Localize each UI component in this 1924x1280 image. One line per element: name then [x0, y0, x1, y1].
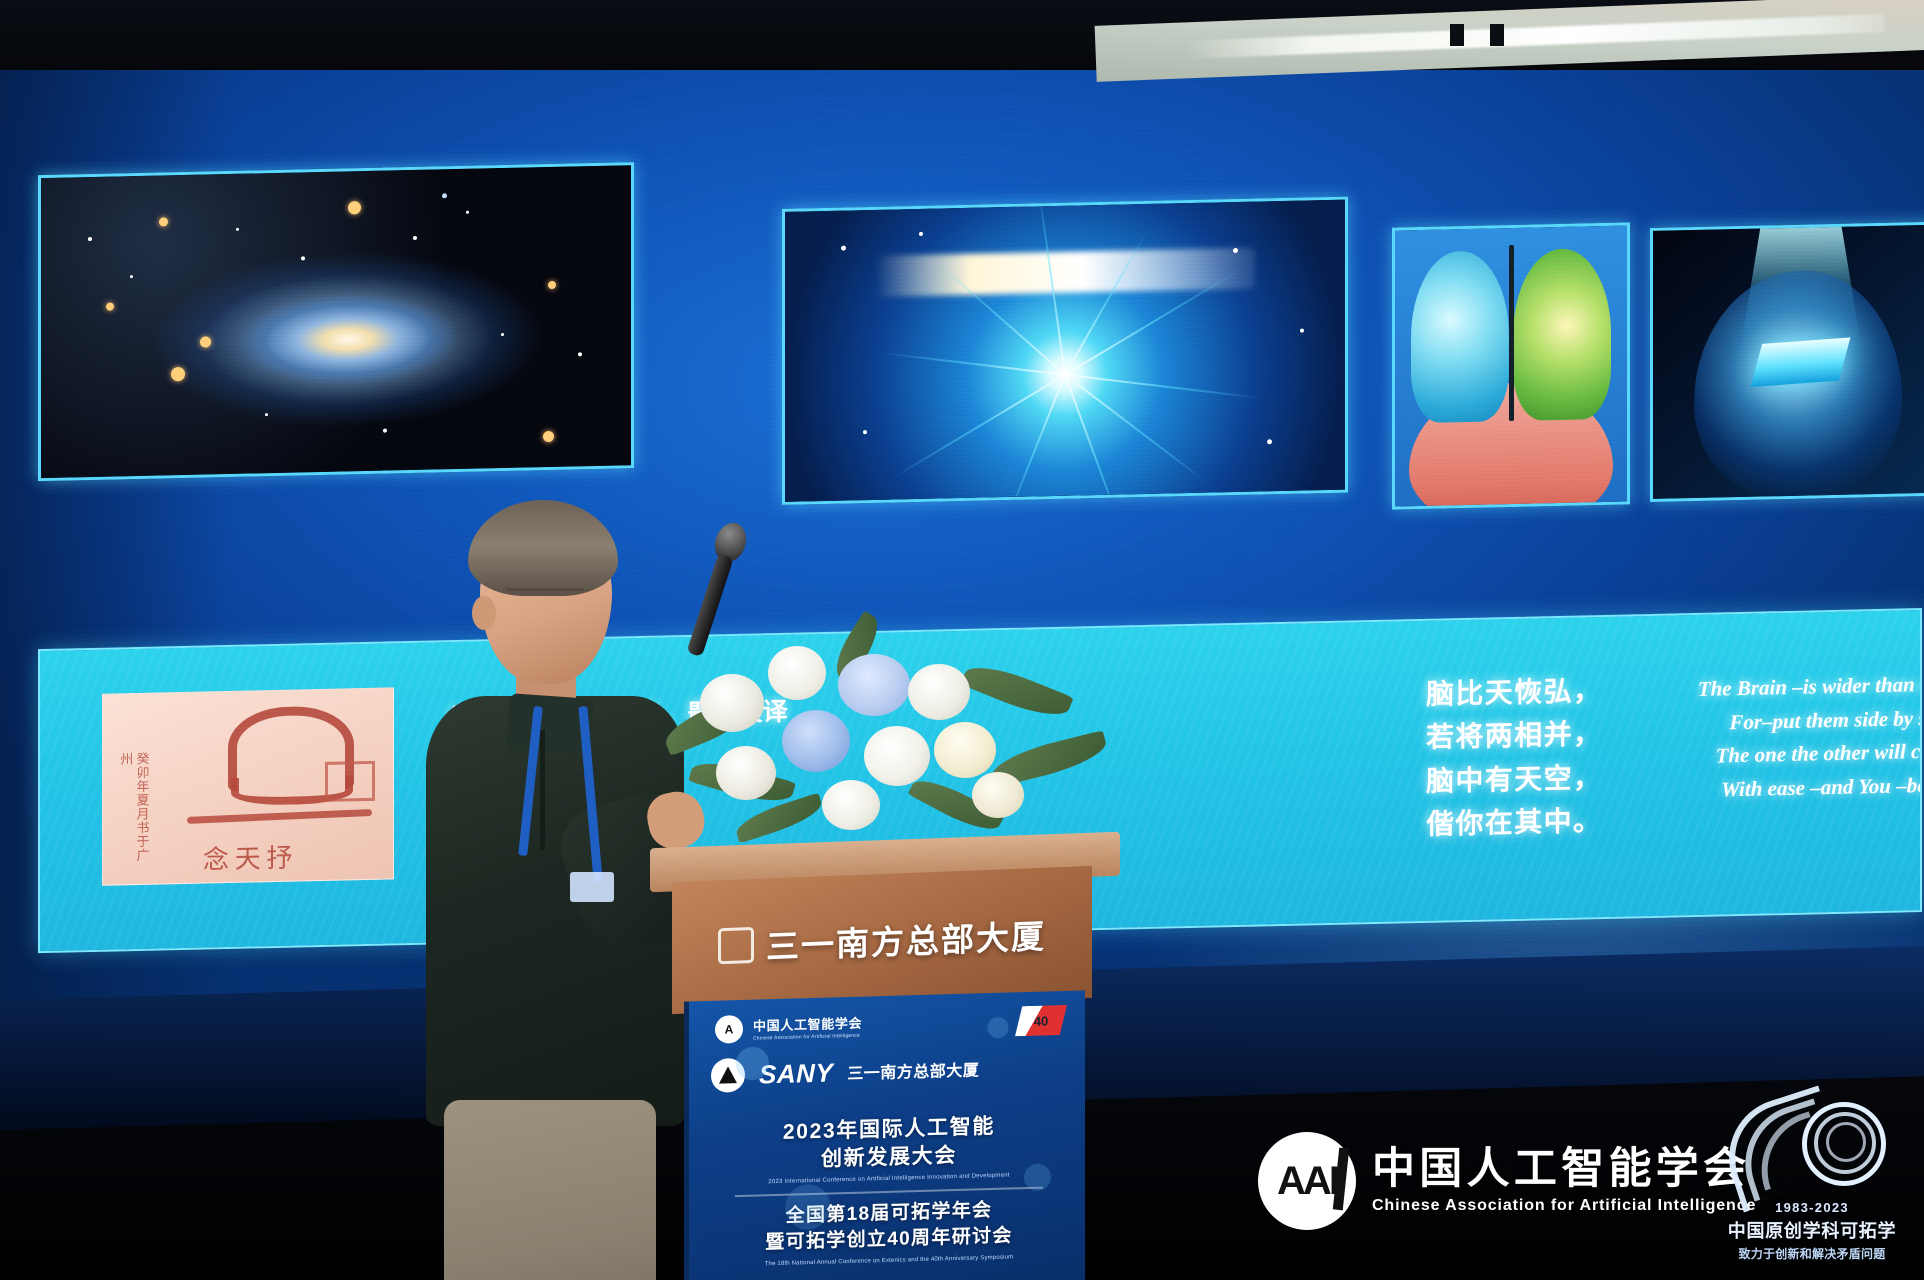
conference-title-line-2: 创新发展大会	[709, 1139, 1069, 1177]
cosmic-burst-image	[785, 200, 1345, 502]
slide-panel-intelligence: 智能演生	[1392, 222, 1630, 509]
poem-cn-line-3: 脑中有天空，	[1426, 756, 1602, 803]
podium-logo-row-2: SANY 三一南方总部大厦	[711, 1049, 1067, 1093]
speaker-placket	[540, 730, 545, 850]
speaker-ear	[472, 596, 496, 630]
conference-title-line-1: 2023年国际人工智能	[709, 1111, 1069, 1149]
podium-sany-icon	[718, 927, 754, 964]
poem-chinese: 脑比天恢弘， 若将两相并， 脑中有天空， 偕你在其中。	[1426, 669, 1602, 846]
podium-caai-cn: 中国人工智能学会	[753, 1016, 862, 1034]
podium: 三一南方总部大厦 A 中国人工智能学会 Chinese Association …	[650, 840, 1120, 1280]
poem-cn-line-1: 脑比天恢弘，	[1426, 669, 1602, 716]
calligraphy-side-column: 癸卯年夏月书于广州	[117, 752, 150, 871]
podium-conference-panel: A 中国人工智能学会 Chinese Association for Artif…	[684, 990, 1085, 1280]
ceiling-fixture	[1450, 24, 1464, 46]
caai-name-cn: 中国人工智能学会	[1372, 1147, 1756, 1192]
conference-stage-photo: 宇宙创生 生命爆发	[0, 0, 1924, 1280]
podium-caai-icon: A	[715, 1015, 743, 1044]
conference-subtitle-line-1: 全国第18届可拓学年会	[709, 1196, 1069, 1233]
split-brain-image	[1395, 225, 1627, 506]
calligraphy-artwork: 印 癸卯年夏月书于广州 念天抒	[102, 687, 394, 885]
sany-logo-icon	[711, 1058, 745, 1093]
caai-mark-letters: AAI	[1277, 1159, 1337, 1204]
conference-subtitle-line-2: 暨可拓学创立40周年研讨会	[709, 1222, 1069, 1259]
poem-en-line-1: The Brain –is wider than the Sky–	[1636, 665, 1922, 708]
spiral-galaxy-image	[41, 165, 631, 478]
anniversary-mark-icon	[1722, 1092, 1902, 1200]
conference-subtitle-en: The 18th National Annual Conference on E…	[709, 1253, 1069, 1269]
calligraphy-footer: 念天抒	[203, 837, 298, 876]
conference-title-en: 2023 International Conference on Artific…	[709, 1171, 1069, 1187]
caai-wordmark: 中国人工智能学会 Chinese Association for Artific…	[1372, 1147, 1756, 1215]
slide-panel-universe: 宇宙创生	[38, 162, 634, 481]
ceiling-fixture	[1490, 24, 1504, 46]
calligraphy-seal: 印	[325, 761, 375, 802]
podium-venue-sign: 三一南方总部大厦	[766, 910, 1046, 969]
anniversary-line-1: 中国原创学科可拓学	[1722, 1217, 1902, 1243]
ai-head-image	[1653, 225, 1924, 499]
speaker-eye-line	[506, 588, 584, 591]
caai-logo: AAI 中国人工智能学会 Chinese Association for Art…	[1258, 1132, 1756, 1230]
speaker-badge	[570, 872, 614, 902]
podium-logo-row-1: A 中国人工智能学会 Chinese Association for Artif…	[715, 1005, 1067, 1045]
poem-english: The Brain –is wider than the Sky– For–pu…	[1636, 665, 1922, 809]
anniversary-line-2: 致力于创新和解决矛盾问题	[1722, 1245, 1902, 1262]
podium-divider	[735, 1186, 1043, 1197]
caai-mark-bar	[1333, 1148, 1349, 1211]
poem-cn-line-4: 偕你在其中。	[1426, 799, 1602, 846]
podium-sany-cn: 三一南方总部大厦	[847, 1056, 979, 1084]
caai-mark-icon: AAI	[1258, 1132, 1356, 1230]
speaker-trousers	[444, 1100, 656, 1280]
extenics-anniversary-logo: 1983-2023 中国原创学科可拓学 致力于创新和解决矛盾问题	[1722, 1092, 1902, 1262]
flower-arrangement	[672, 640, 1092, 860]
poem-cn-line-2: 若将两相并，	[1426, 712, 1602, 759]
podium-caai-en: Chinese Association for Artificial Intel…	[753, 1033, 862, 1042]
slide-panel-life: 生命爆发	[782, 197, 1348, 505]
podium-anniversary-badge: 40	[1015, 1005, 1067, 1036]
sany-wordmark: SANY	[759, 1057, 833, 1090]
podium-conference-title: 2023年国际人工智能 创新发展大会 2023 International Co…	[709, 1111, 1069, 1269]
slide-panel-ai: 人工智能	[1650, 222, 1924, 502]
caai-name-en: Chinese Association for Artificial Intel…	[1372, 1197, 1756, 1215]
speaker-hair	[468, 500, 618, 596]
